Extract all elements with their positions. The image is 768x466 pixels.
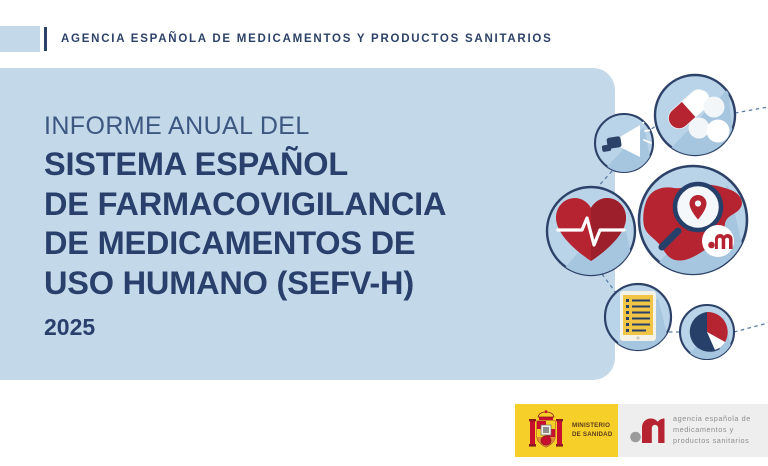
header-accent-swatch [0, 26, 40, 52]
ministry-line-1: MINISTERIO [572, 422, 613, 430]
aemps-line-3: productos sanitarios [673, 436, 751, 447]
aemps-name: agencia española de medicamentos y produ… [673, 414, 751, 447]
cover-page: AGENCIA ESPAÑOLA DE MEDICAMENTOS Y PRODU… [0, 0, 768, 466]
header-divider [44, 27, 47, 51]
aemps-mark-icon [630, 417, 666, 444]
aemps-logo: agencia española de medicamentos y produ… [630, 414, 751, 447]
page-header: AGENCIA ESPAÑOLA DE MEDICAMENTOS Y PRODU… [0, 26, 553, 52]
megaphone-icon [595, 114, 653, 172]
title-line-4: USO HUMANO (SEFV-H) [44, 264, 564, 304]
report-year: 2025 [44, 314, 95, 341]
document-list-icon [605, 284, 671, 351]
ministry-of-health-logo: MINISTERIO DE SANIDAD [515, 404, 618, 457]
aemps-line-1: agencia española de [673, 414, 751, 425]
pills-icon [655, 75, 735, 156]
title-line-1: SISTEMA ESPAÑOL [44, 145, 564, 185]
title-line-3: DE MEDICAMENTOS DE [44, 224, 564, 264]
pie-chart-icon [680, 305, 734, 359]
heart-pulse-icon [547, 187, 636, 276]
page-title: SISTEMA ESPAÑOL DE FARMACOVIGILANCIA DE … [44, 145, 564, 304]
agency-name: AGENCIA ESPAÑOLA DE MEDICAMENTOS Y PRODU… [61, 33, 553, 45]
spain-map-search-icon [639, 166, 750, 277]
icon-cluster-illustration [528, 55, 768, 380]
ministry-name: MINISTERIO DE SANIDAD [572, 422, 613, 439]
title-line-2: DE FARMACOVIGILANCIA [44, 185, 564, 225]
title-block: INFORME ANUAL DEL SISTEMA ESPAÑOL DE FAR… [44, 112, 564, 304]
footer-logos: MINISTERIO DE SANIDAD agencia española d… [515, 404, 768, 457]
report-eyebrow: INFORME ANUAL DEL [44, 112, 564, 140]
ministry-line-2: DE SANIDAD [572, 431, 613, 439]
aemps-line-2: medicamentos y [673, 425, 751, 436]
spain-coat-of-arms-icon [526, 410, 566, 452]
